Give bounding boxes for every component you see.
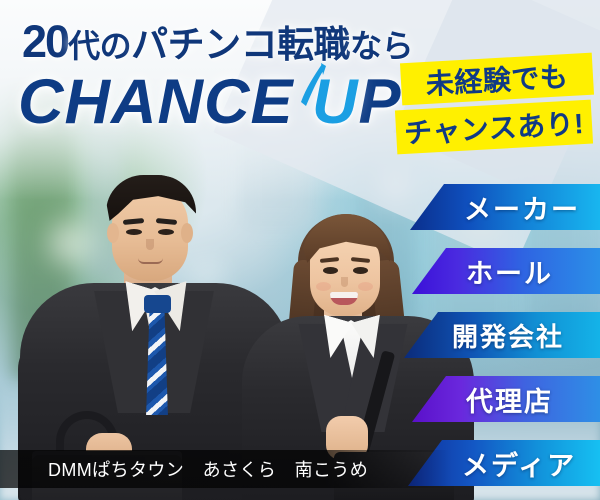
headline-part-a: 代の [68,28,131,64]
woman-eye [353,267,368,274]
category-banner-development-company[interactable]: 開発会社 [404,312,600,358]
logo-u-letter: U [312,66,359,138]
woman-cheek [358,282,373,291]
headline-number: 20 [22,16,68,67]
headline: 20代のパチンコ転職なら [22,14,413,68]
man-tie-knot [144,295,171,313]
woman-teeth [330,292,358,298]
headline-part-b: パチンコ転職 [131,24,350,65]
man-nose [146,239,154,250]
person-man [28,155,278,500]
man-eye [158,229,174,235]
caption-credits: DMMぱちタウン あさくら 南こうめ [48,450,368,488]
logo-chance-up: CHANCE UP [18,66,402,138]
category-label: メディア [462,444,576,483]
chance-up-banner: 20代のパチンコ転職なら CHANCE UP 未経験でも チャンスあり! メーカ… [0,0,600,500]
category-label: メーカー [464,188,580,227]
woman-cheek [316,282,331,291]
man-eye [126,229,142,235]
category-label: ホール [466,252,553,291]
man-mouth [138,258,163,264]
woman-eye [323,267,338,274]
logo-chance-text: CHANCE [18,67,294,137]
man-ear [181,223,193,243]
man-ear [107,223,119,243]
category-label: 開発会社 [452,317,564,354]
headline-suffix: なら [350,28,413,64]
category-label: 代理店 [466,380,553,419]
woman-nose [341,277,348,287]
